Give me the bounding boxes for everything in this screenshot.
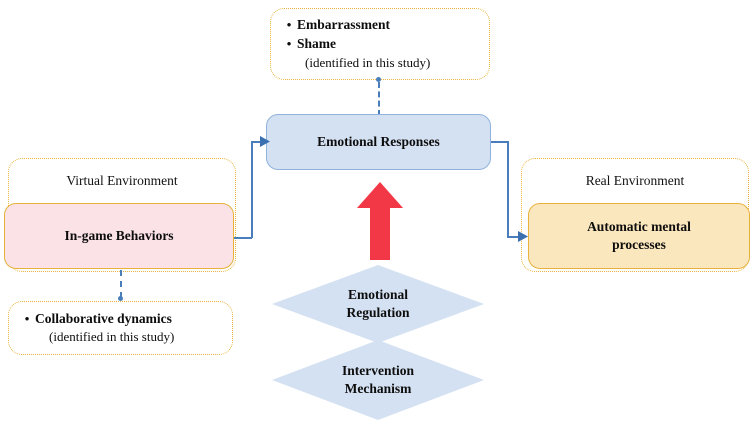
node-emotional-regulation[interactable]: Emotional Regulation	[272, 265, 484, 343]
arrow-right-icon	[260, 136, 270, 147]
bullet-label-collaborative-dynamics: Collaborative dynamics	[35, 310, 172, 329]
node-label-emotional-regulation-line1: Emotional	[346, 286, 409, 304]
up-arrow-icon	[357, 182, 403, 260]
bullet-label-shame: Shame	[297, 35, 336, 54]
node-label-intervention-mechanism-line2: Mechanism	[342, 380, 414, 398]
bullet-icon: •	[281, 16, 297, 34]
node-label-automatic-mental-processes-line1: Automatic mental	[587, 218, 691, 236]
collaborative-dynamics-callout: • Collaborative dynamics (identified in …	[8, 301, 233, 355]
node-label-automatic-mental-processes-line2: processes	[612, 236, 666, 254]
node-emotional-responses[interactable]: Emotional Responses	[266, 114, 491, 170]
connector-emotional-to-automatic-seg-v	[507, 141, 509, 238]
connector-ingame-to-emotional-seg-h1	[234, 237, 252, 239]
arrow-right-icon	[518, 231, 528, 242]
node-label-intervention-mechanism: Intervention Mechanism	[342, 362, 414, 397]
callout-note-bottom-left: (identified in this study)	[19, 328, 222, 346]
node-label-emotional-regulation: Emotional Regulation	[346, 286, 409, 321]
callout-bullet-item: • Shame	[281, 35, 479, 54]
callout-bullet-item: • Embarrassment	[281, 16, 479, 35]
node-intervention-mechanism[interactable]: Intervention Mechanism	[272, 340, 484, 420]
node-label-in-game-behaviors: In-game Behaviors	[64, 227, 173, 245]
node-label-emotional-responses: Emotional Responses	[317, 133, 440, 151]
callout-note-top: (identified in this study)	[281, 54, 479, 72]
node-in-game-behaviors[interactable]: In-game Behaviors	[4, 203, 234, 269]
embarrassment-shame-callout: • Embarrassment • Shame (identified in t…	[270, 8, 490, 80]
dashed-connector-top	[378, 82, 380, 116]
connector-ingame-to-emotional-seg-v	[251, 141, 253, 238]
group-label-real-environment: Real Environment	[521, 173, 749, 189]
diagram-canvas: • Embarrassment • Shame (identified in t…	[0, 0, 754, 430]
bullet-icon: •	[19, 310, 35, 328]
node-automatic-mental-processes[interactable]: Automatic mental processes	[528, 203, 750, 269]
group-label-virtual-environment: Virtual Environment	[8, 173, 236, 189]
dashed-connector-bottom-left	[120, 270, 122, 298]
bullet-icon: •	[281, 35, 297, 53]
node-label-intervention-mechanism-line1: Intervention	[342, 362, 414, 380]
bullet-label-embarrassment: Embarrassment	[297, 16, 390, 35]
callout-bullet-item: • Collaborative dynamics	[19, 310, 222, 329]
node-label-emotional-regulation-line2: Regulation	[346, 304, 409, 322]
